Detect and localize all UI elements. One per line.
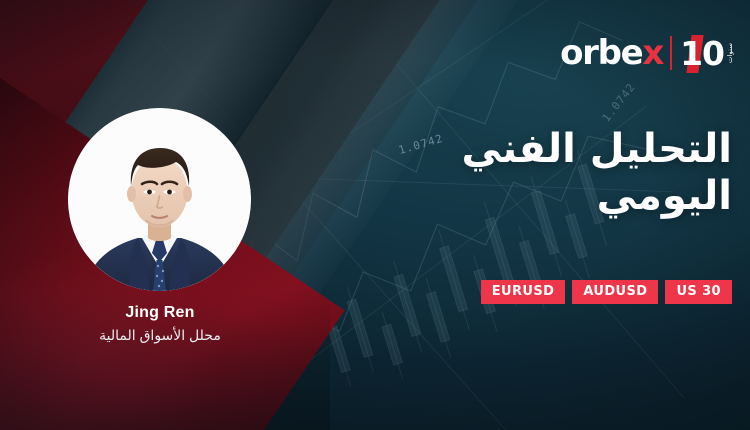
logo-anniversary: 10 سنوات — [680, 37, 734, 70]
instrument-tags: US 30 AUDUSD EURUSD — [481, 280, 732, 304]
avatar — [68, 108, 251, 291]
tag-eurusd[interactable]: EURUSD — [481, 280, 566, 304]
promo-banner: 1.0742 1.0742 — [0, 0, 750, 430]
logo-wordmark-accent: x — [642, 33, 663, 73]
logo-anniversary-number-wrap: 10 — [680, 37, 724, 70]
orbex-logo[interactable]: orbex 10 سنوات — [560, 33, 734, 73]
page-title: التحليل الفني اليومي — [302, 126, 732, 220]
page-title-line2: اليومي — [302, 173, 732, 220]
author-credit: Jing Ren محلل الأسواق المالية — [40, 303, 280, 344]
tag-audusd[interactable]: AUDUSD — [572, 280, 658, 304]
author-role: محلل الأسواق المالية — [40, 326, 280, 344]
logo-wordmark-text: orbe — [560, 33, 642, 73]
logo-divider — [670, 36, 672, 70]
logo-anniversary-number: 10 — [680, 34, 724, 73]
tag-us30[interactable]: US 30 — [665, 280, 732, 304]
logo-anniversary-label: سنوات — [727, 43, 734, 63]
author-name: Jing Ren — [40, 303, 280, 323]
page-title-line1: التحليل الفني — [302, 126, 732, 173]
logo-wordmark: orbex — [560, 36, 663, 70]
